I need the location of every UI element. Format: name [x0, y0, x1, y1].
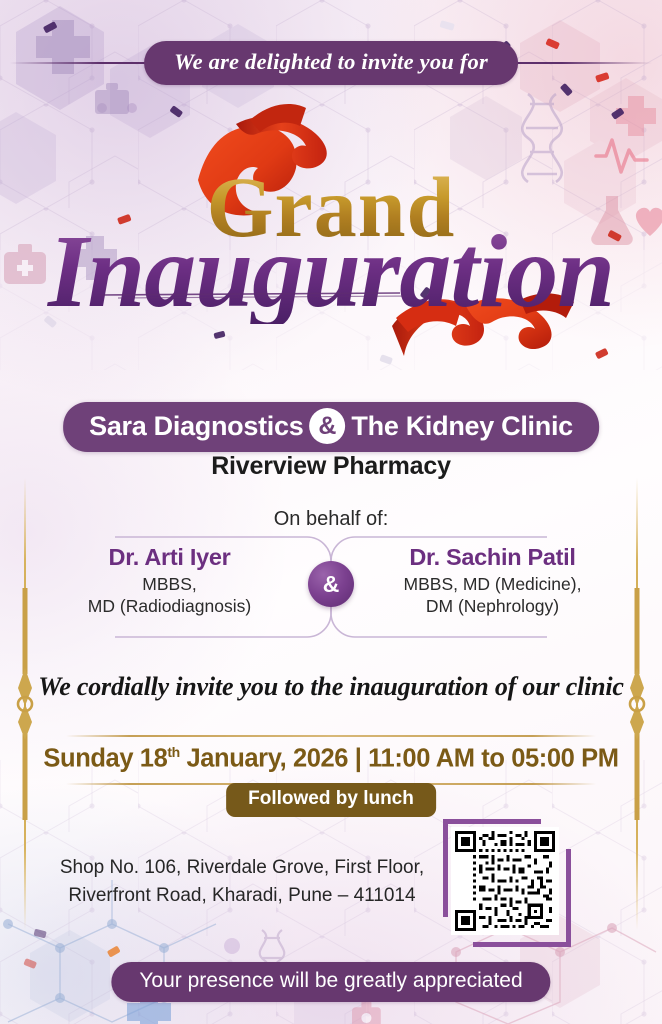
clinic-name-right: The Kidney Clinic: [351, 411, 572, 442]
doctor-2-name: Dr. Sachin Patil: [385, 544, 600, 571]
date-time-text: Sunday 18th January, 2026 | 11:00 AM to …: [0, 744, 662, 774]
doctor-card-2: Dr. Sachin Patil MBBS, MD (Medicine), DM…: [385, 544, 600, 618]
doctor-1-name: Dr. Arti Iyer: [62, 544, 277, 571]
banner-rule-right: [502, 62, 652, 64]
clinic-name-banner: Sara Diagnostics & The Kidney Clinic: [63, 402, 599, 452]
date-prefix: Sunday 18: [43, 745, 167, 773]
pharmacy-name: Riverview Pharmacy: [0, 452, 662, 481]
lunch-note-badge: Followed by lunch: [226, 783, 436, 817]
date-ordinal: th: [167, 744, 179, 760]
qr-code-icon[interactable]: [451, 827, 559, 935]
clinic-name-left: Sara Diagnostics: [89, 411, 303, 442]
doctor-2-qualification-1: MBBS, MD (Medicine),: [385, 573, 600, 595]
title-inauguration: Inauguration: [0, 220, 662, 324]
banner-rule-left: [10, 62, 160, 64]
venue-address: Shop No. 106, Riverdale Grove, First Flo…: [52, 854, 432, 909]
doctors-ampersand-badge: &: [308, 561, 354, 607]
title-block: Grand Inauguration: [0, 120, 662, 360]
date-rule-top: [66, 735, 596, 737]
footer-banner-text: Your presence will be greatly appreciate…: [111, 962, 550, 1002]
on-behalf-label: On behalf of:: [0, 508, 662, 531]
clinic-ampersand-badge: &: [309, 408, 345, 444]
top-banner-text: We are delighted to invite you for: [144, 41, 518, 85]
doctor-2-qualification-2: DM (Nephrology): [385, 595, 600, 617]
address-line-2: Riverfront Road, Kharadi, Pune – 411014: [52, 882, 432, 910]
cordial-invite-text: We cordially invite you to the inaugurat…: [0, 672, 662, 702]
doctor-card-1: Dr. Arti Iyer MBBS, MD (Radiodiagnosis): [62, 544, 277, 618]
date-suffix: January, 2026 | 11:00 AM to 05:00 PM: [180, 745, 619, 773]
doctor-1-qualification-2: MD (Radiodiagnosis): [62, 595, 277, 617]
invitation-card: We are delighted to invite you for Grand…: [0, 0, 662, 1024]
title-underline-swoosh: [100, 292, 420, 300]
gold-divider-ornament-right: [624, 478, 650, 930]
gold-divider-ornament-left: [12, 478, 38, 930]
qr-code-block[interactable]: [449, 825, 565, 941]
doctor-1-qualification-1: MBBS,: [62, 573, 277, 595]
address-line-1: Shop No. 106, Riverdale Grove, First Flo…: [52, 854, 432, 882]
